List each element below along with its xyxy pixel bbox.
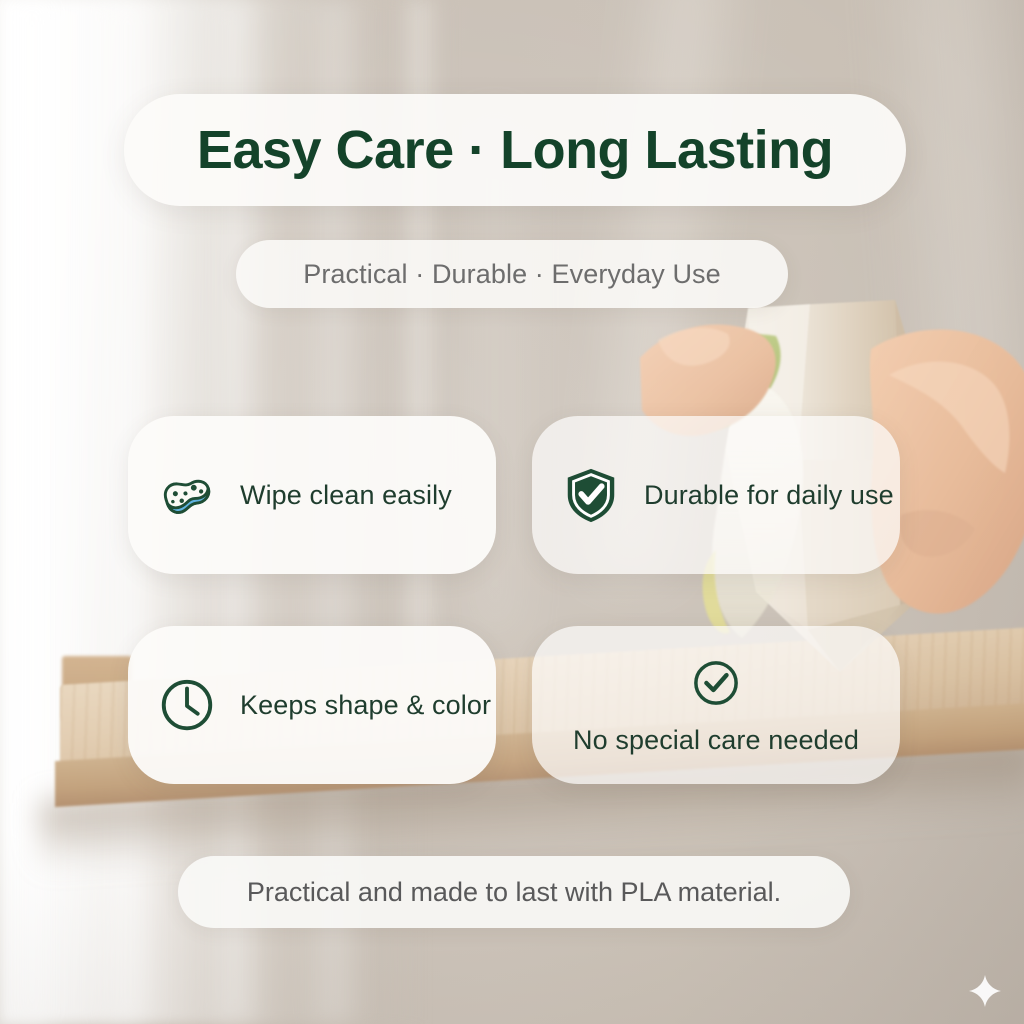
infographic-canvas: Easy Care · Long Lasting Practical · Dur… [0,0,1024,1024]
overlay-ui: Easy Care · Long Lasting Practical · Dur… [0,0,1024,1024]
title-pill: Easy Care · Long Lasting [124,94,906,206]
clock-icon [156,674,218,736]
check-circle-icon [688,655,744,711]
feature-card-wipe-clean[interactable]: Wipe clean easily [128,416,496,574]
feature-label: No special care needed [573,725,859,756]
page-title: Easy Care · Long Lasting [197,119,833,181]
footer-caption: Practical and made to last with PLA mate… [247,877,781,908]
feature-label: Keeps shape & color [240,690,491,721]
feature-label: Wipe clean easily [240,480,452,511]
feature-card-keeps-shape[interactable]: Keeps shape & color [128,626,496,784]
subtitle-pill: Practical · Durable · Everyday Use [236,240,788,308]
feature-card-durable[interactable]: Durable for daily use [532,416,900,574]
page-subtitle: Practical · Durable · Everyday Use [303,259,721,290]
shield-check-icon [560,464,622,526]
feature-label: Durable for daily use [644,480,894,511]
footer-pill: Practical and made to last with PLA mate… [178,856,850,928]
feature-grid: Wipe clean easily Durable for daily use [128,416,900,784]
feature-card-no-special-care[interactable]: No special care needed [532,626,900,784]
sponge-icon [156,464,218,526]
sparkle-icon [968,974,1002,1008]
